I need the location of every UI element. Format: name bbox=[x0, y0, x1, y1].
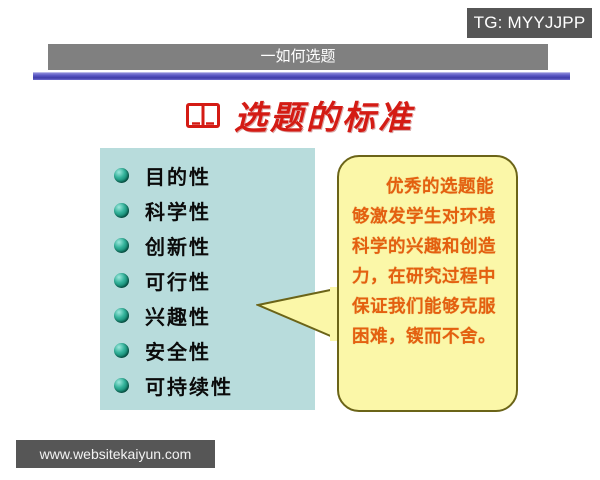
list-item-label: 可持续性 bbox=[145, 371, 233, 400]
criteria-list-panel: 目的性 科学性 创新性 可行性 兴趣性 安全性 可持续性 bbox=[100, 148, 315, 410]
list-item: 目的性 bbox=[100, 158, 315, 193]
list-item-label: 目的性 bbox=[145, 161, 211, 190]
globe-bullet-icon bbox=[114, 168, 129, 183]
globe-bullet-icon bbox=[114, 308, 129, 323]
list-item: 可持续性 bbox=[100, 368, 315, 403]
callout-tail bbox=[256, 286, 342, 342]
list-item: 科学性 bbox=[100, 193, 315, 228]
globe-bullet-icon bbox=[114, 238, 129, 253]
footer-site-watermark: www.websitekaiyun.com bbox=[16, 440, 215, 468]
globe-bullet-icon bbox=[114, 343, 129, 358]
list-item-label: 可行性 bbox=[145, 266, 211, 295]
slide-title-row: 选题的标准 bbox=[0, 92, 600, 138]
callout-text: 优秀的选题能够激发学生对环境科学的兴趣和创造力，在研究过程中保证我们能够克服困难… bbox=[352, 171, 504, 351]
list-item-label: 科学性 bbox=[145, 196, 211, 225]
header-divider-rule bbox=[33, 72, 570, 80]
section-header-bar: 一如何选题 bbox=[48, 44, 548, 70]
list-item: 创新性 bbox=[100, 228, 315, 263]
list-item-label: 创新性 bbox=[145, 231, 211, 260]
list-item-label: 安全性 bbox=[145, 336, 211, 365]
open-book-icon bbox=[186, 102, 220, 129]
list-item-label: 兴趣性 bbox=[145, 301, 211, 330]
globe-bullet-icon bbox=[114, 273, 129, 288]
page-title: 选题的标准 bbox=[234, 91, 414, 139]
globe-bullet-icon bbox=[114, 378, 129, 393]
callout-bubble: 优秀的选题能够激发学生对环境科学的兴趣和创造力，在研究过程中保证我们能够克服困难… bbox=[337, 155, 518, 412]
globe-bullet-icon bbox=[114, 203, 129, 218]
telegram-watermark-badge: TG: MYYJJPP bbox=[467, 8, 592, 38]
slide-canvas: TG: MYYJJPP 一如何选题 选题的标准 目的性 科学性 创新性 bbox=[0, 0, 600, 480]
